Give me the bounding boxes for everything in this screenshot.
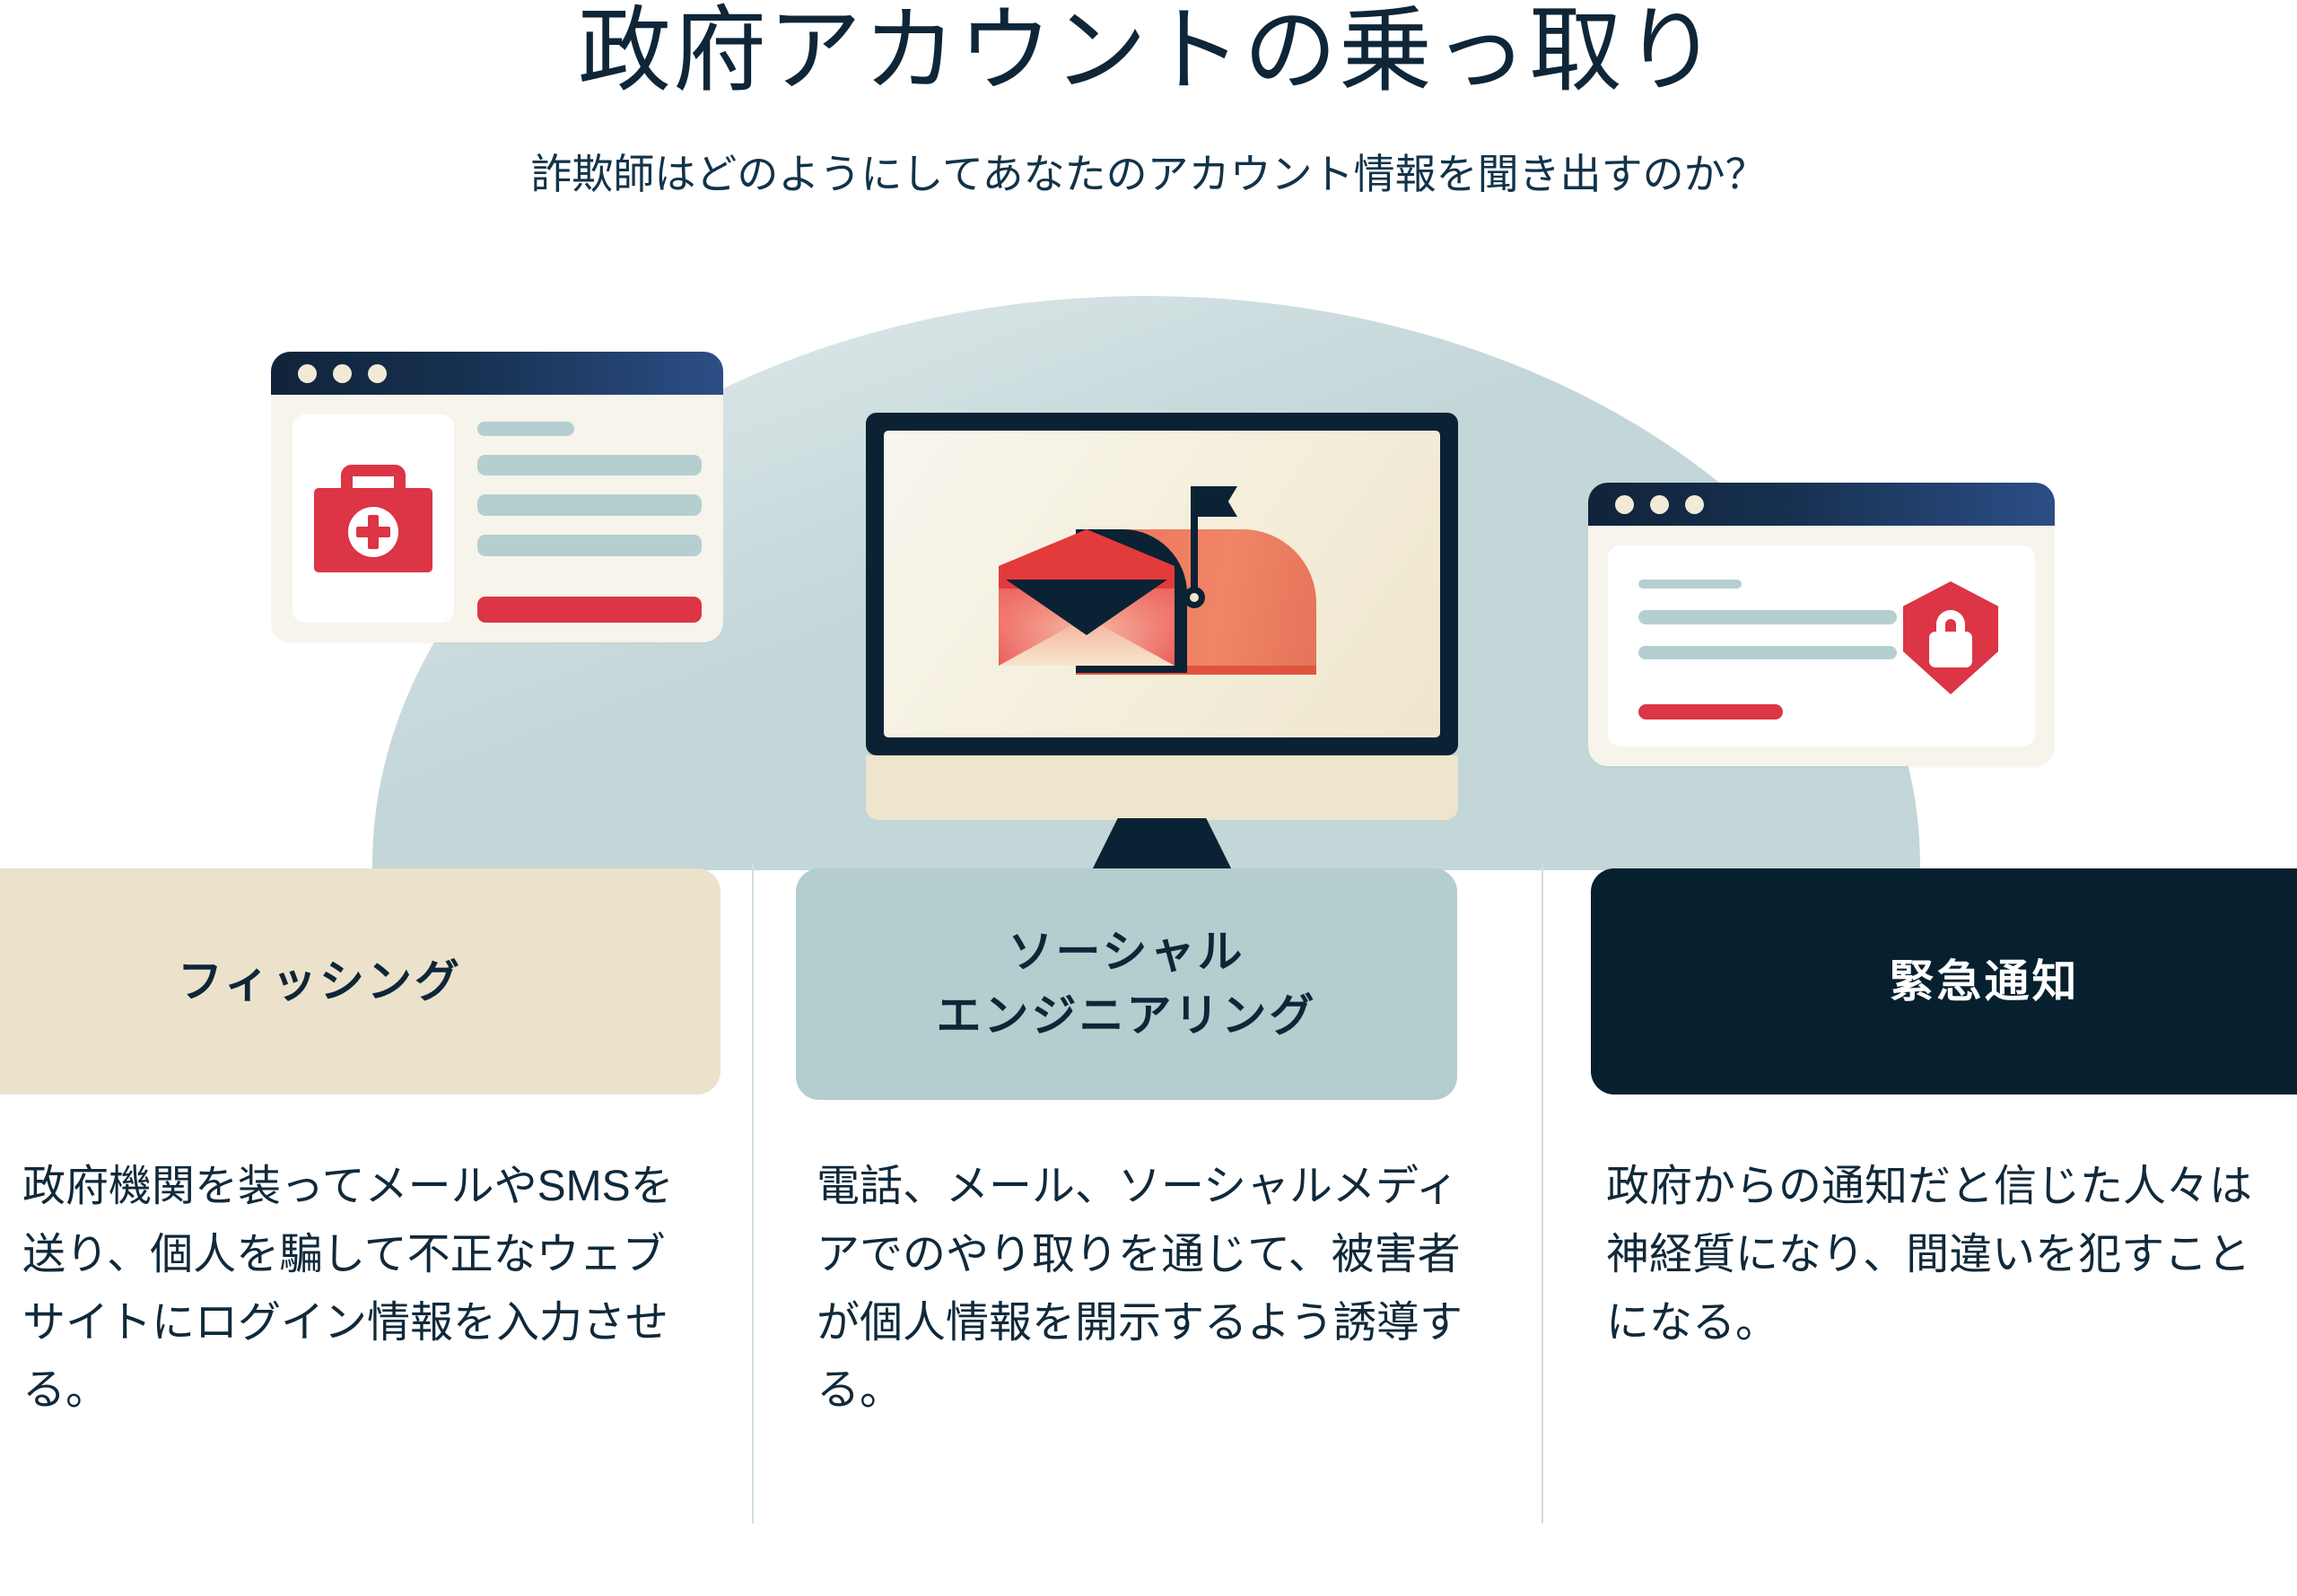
placeholder-line — [477, 494, 702, 516]
first-aid-kit-icon — [314, 465, 432, 572]
description-urgent-notice: 政府からの通知だと信じた人々は神経質になり、間違いを犯すことになる。 — [1606, 1153, 2270, 1356]
window-dot-icon — [298, 364, 317, 383]
description-phishing: 政府機関を装ってメールやSMSを送り、個人を騙して不正なウェブサイトにログイン情… — [22, 1153, 677, 1425]
infographic-root: 政府アカウントの乗っ取り 詐欺師はどのようにしてあなたのアカウント情報を聞き出す… — [0, 0, 2297, 1596]
label-text-line1: ソーシャル — [1009, 927, 1245, 977]
mailbox-flag-icon — [1196, 486, 1237, 517]
description-social-engineering: 電話、メール、ソーシャルメディアでのやり取りを通じて、被害者が個人情報を開示する… — [817, 1153, 1463, 1425]
illustration-phishing-browser — [271, 352, 723, 642]
column-divider — [1542, 864, 1543, 1523]
mailbox-icon — [999, 486, 1358, 684]
placeholder-line — [477, 535, 702, 556]
browser-title-bar — [1588, 483, 2055, 526]
window-dot-icon — [1615, 495, 1634, 514]
envelope-icon — [999, 529, 1175, 666]
placeholder-line — [1638, 646, 1897, 660]
label-box-urgent-notice: 緊急通知 — [1591, 868, 2297, 1095]
security-card — [1608, 545, 2035, 746]
shield-lock-icon — [1903, 581, 1998, 694]
window-dot-icon — [333, 364, 352, 383]
window-dot-icon — [1685, 495, 1704, 514]
browser-text-lines — [1638, 572, 1897, 720]
illustration-urgent-notice-browser — [1588, 483, 2055, 766]
page-title: 政府アカウントの乗っ取り — [0, 0, 2297, 109]
label-box-social-engineering: ソーシャル エンジニアリング — [796, 868, 1457, 1100]
label-text: ソーシャル エンジニアリング — [937, 920, 1317, 1048]
placeholder-line — [477, 455, 702, 476]
label-box-phishing: フィッシング — [0, 868, 721, 1095]
browser-title-bar — [271, 352, 723, 395]
label-text: フィッシング — [178, 950, 462, 1014]
placeholder-line — [1638, 580, 1742, 589]
placeholder-cta-button — [1638, 704, 1783, 720]
window-dot-icon — [1650, 495, 1669, 514]
first-aid-card — [293, 414, 454, 623]
window-dot-icon — [368, 364, 387, 383]
browser-content — [1588, 526, 2055, 766]
monitor-frame — [866, 413, 1458, 755]
browser-content — [271, 395, 723, 642]
illustration-social-engineering-monitor — [866, 413, 1458, 852]
column-divider — [752, 864, 754, 1523]
page-subtitle: 詐欺師はどのようにしてあなたのアカウント情報を聞き出すのか？ — [0, 142, 2297, 201]
label-text-line2: エンジニアリング — [937, 990, 1317, 1041]
placeholder-line — [1638, 610, 1897, 624]
monitor-screen — [884, 431, 1440, 737]
label-text: 緊急通知 — [1890, 950, 2080, 1014]
shield-wrapper — [1897, 572, 2004, 720]
browser-text-lines — [477, 414, 702, 623]
placeholder-line — [477, 422, 574, 436]
monitor-chin — [866, 755, 1458, 820]
placeholder-cta-button — [477, 597, 702, 623]
